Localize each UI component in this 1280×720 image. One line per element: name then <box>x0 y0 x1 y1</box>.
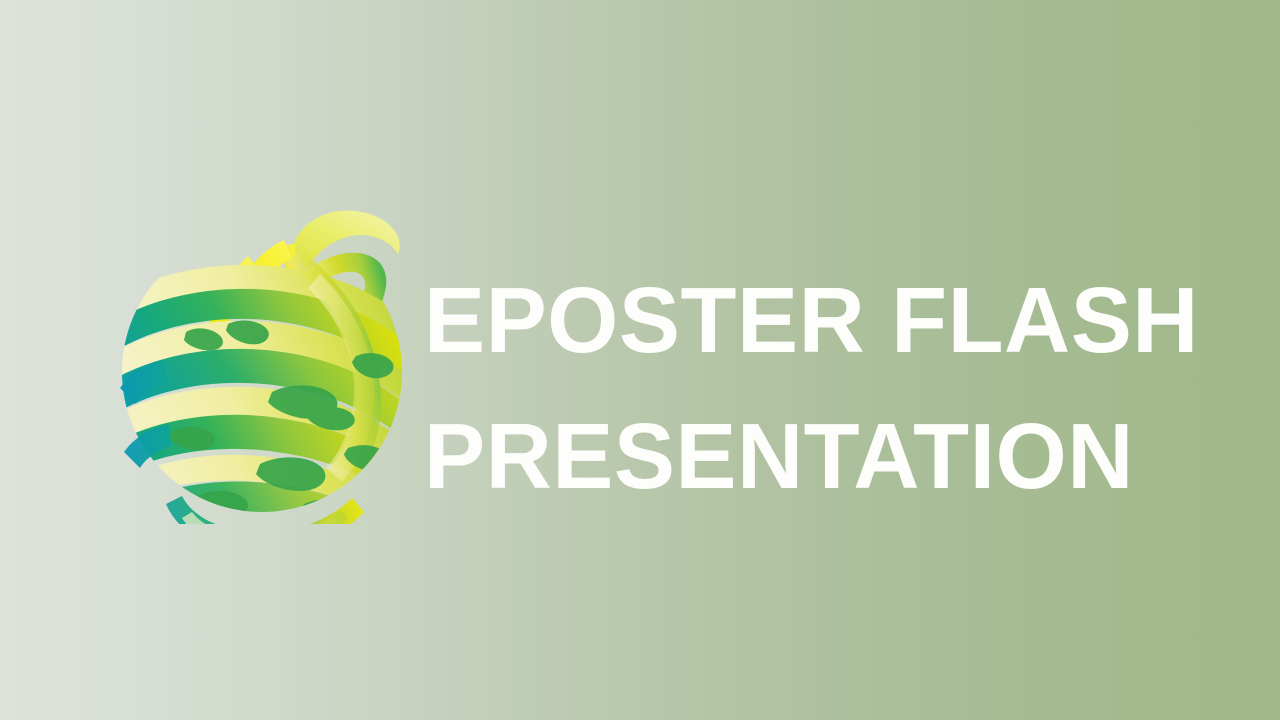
title-slide: EPOSTER FLASH PRESENTATION <box>0 0 1280 720</box>
spiral-ribbon-globe-logo <box>112 196 412 524</box>
headline-line-1: EPOSTER FLASH <box>424 252 1212 388</box>
headline-line-2: PRESENTATION <box>424 388 1212 524</box>
page-title: EPOSTER FLASH PRESENTATION <box>424 252 1224 524</box>
